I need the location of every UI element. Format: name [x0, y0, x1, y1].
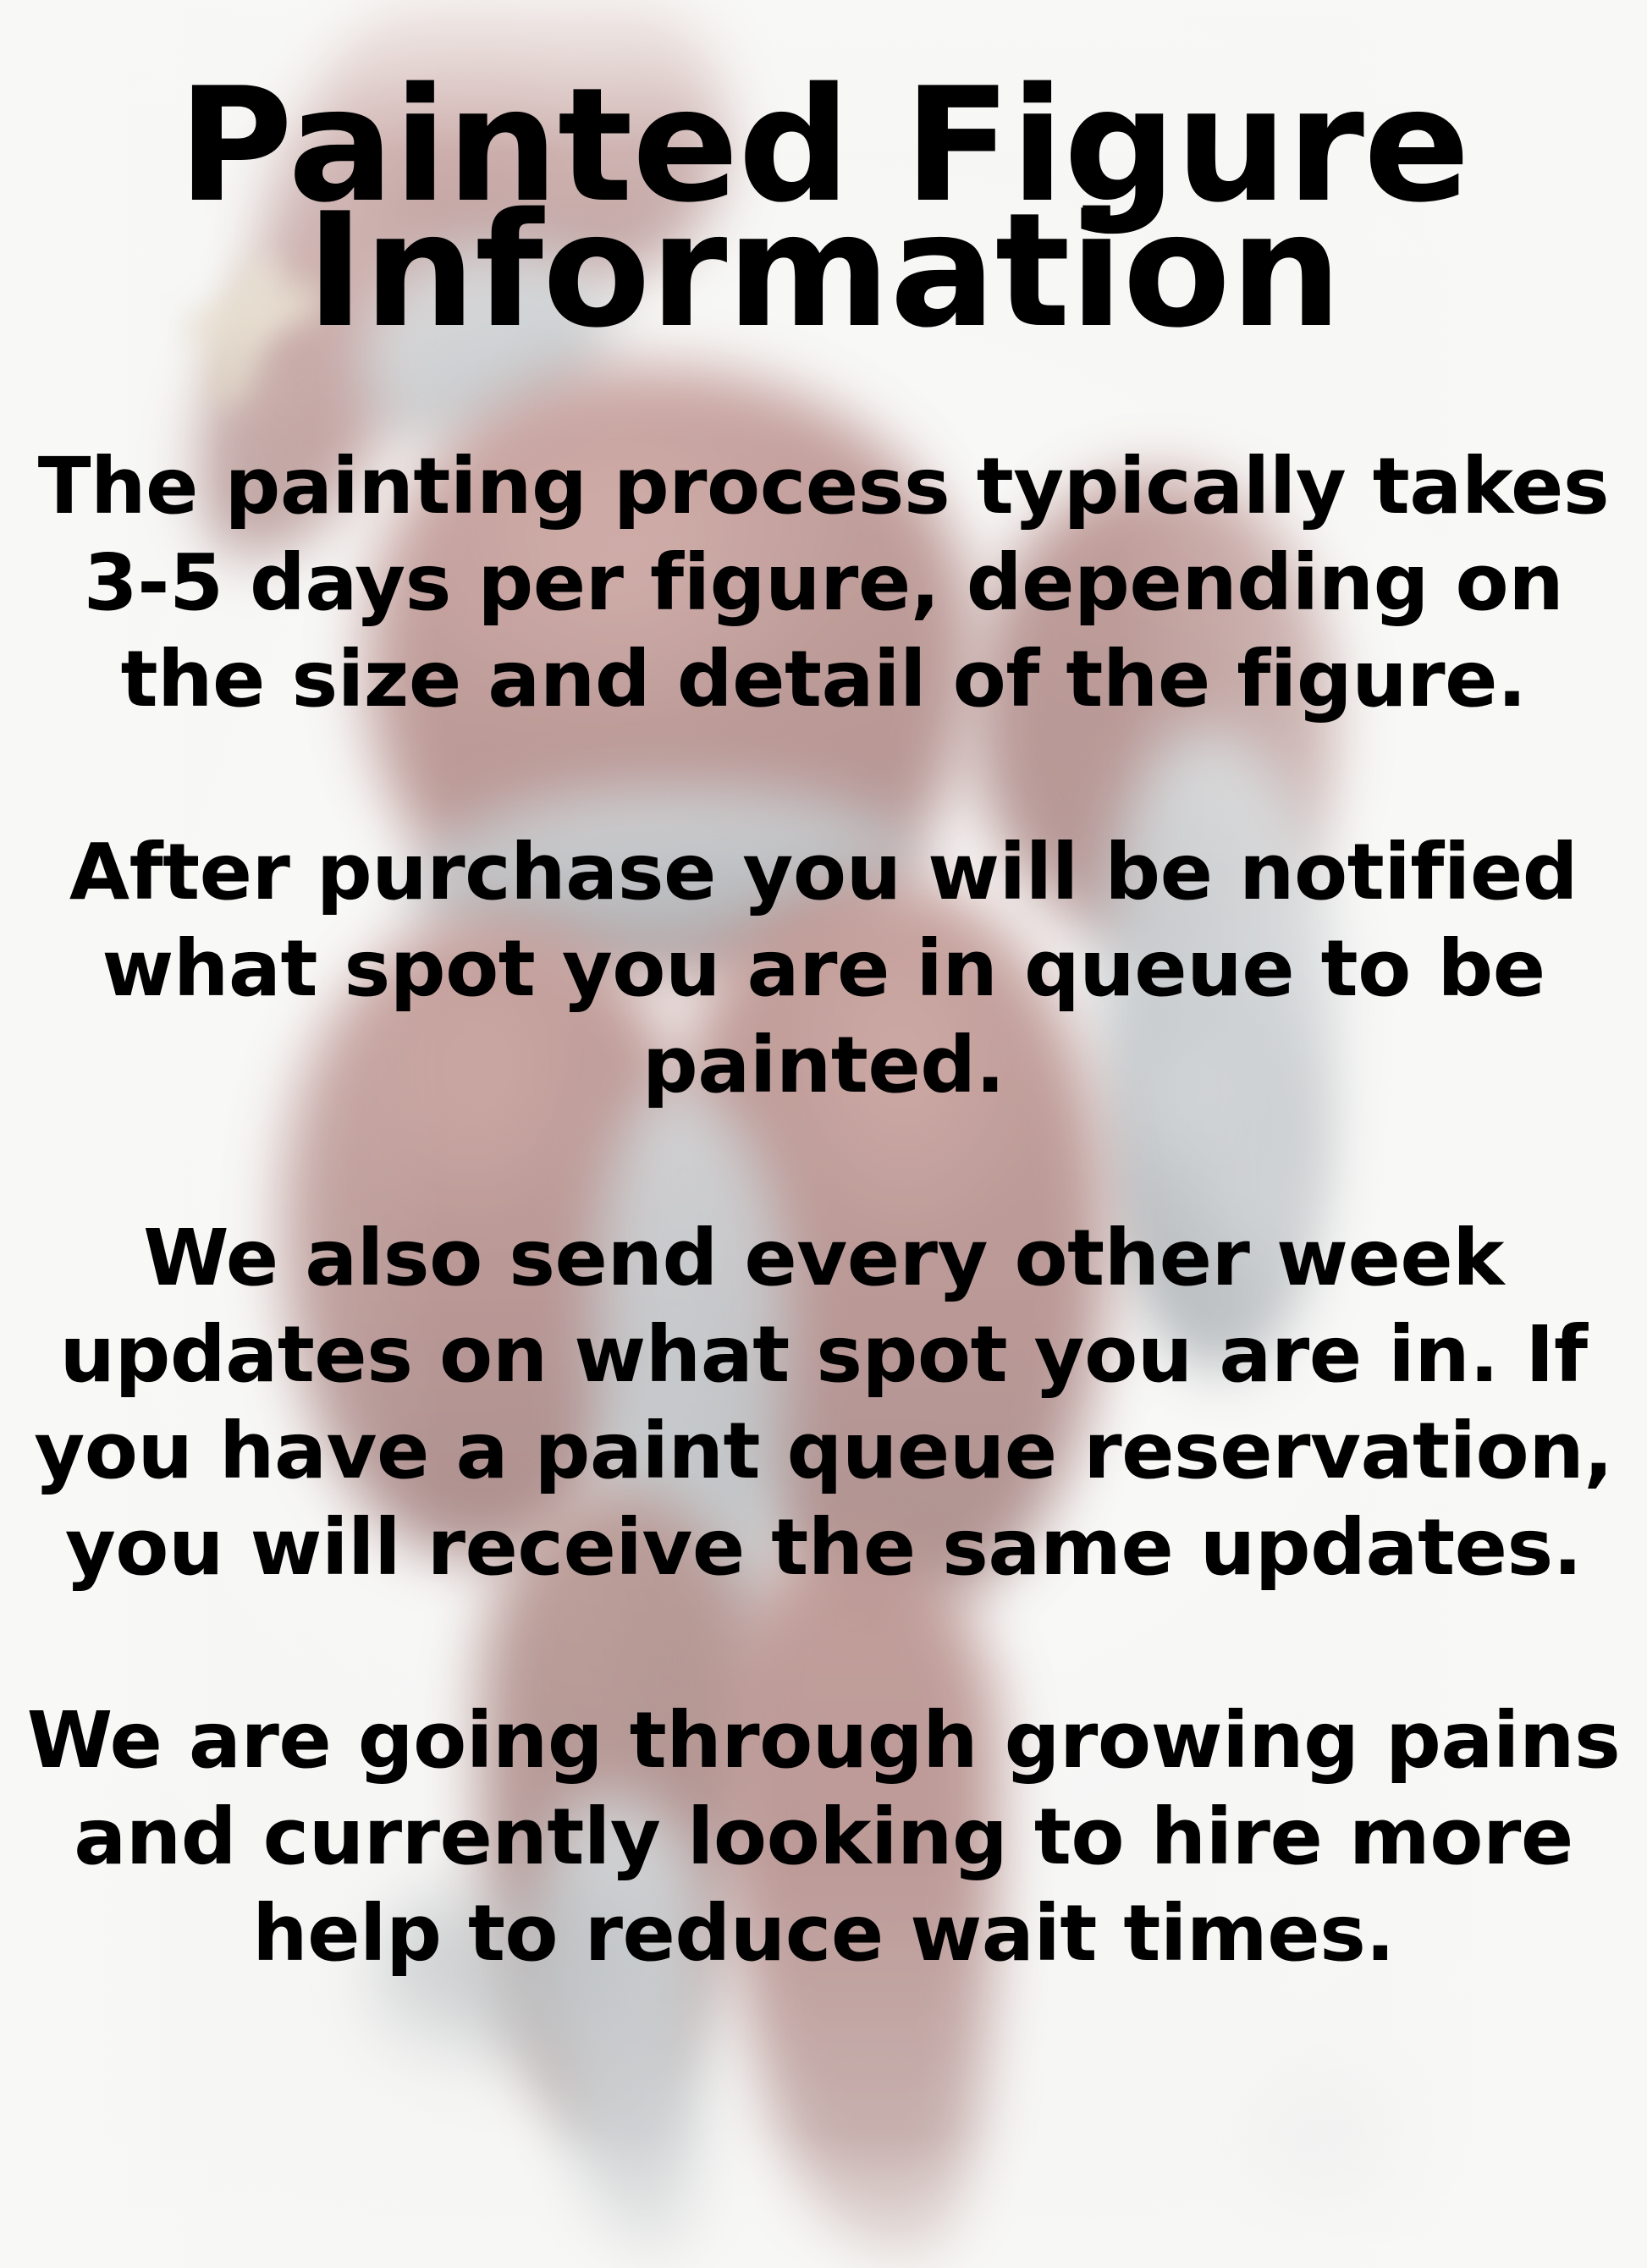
info-paragraph-queue-notification: After purchase you will be notified what…	[12, 824, 1635, 1114]
info-paragraph-biweekly-updates: We also send every other week updates on…	[12, 1210, 1635, 1596]
info-paragraph-hiring: We are going through growing pains and c…	[12, 1693, 1635, 1982]
info-paragraph-turnaround: The painting process typically takes 3-5…	[12, 438, 1635, 728]
poster-content: Painted Figure Information The painting …	[0, 0, 1647, 2268]
poster-body-copy: The painting process typically takes 3-5…	[12, 438, 1635, 1982]
painted-figure-info-poster: Painted Figure Information The painting …	[0, 0, 1647, 2268]
page-title: Painted Figure Information	[12, 0, 1635, 333]
